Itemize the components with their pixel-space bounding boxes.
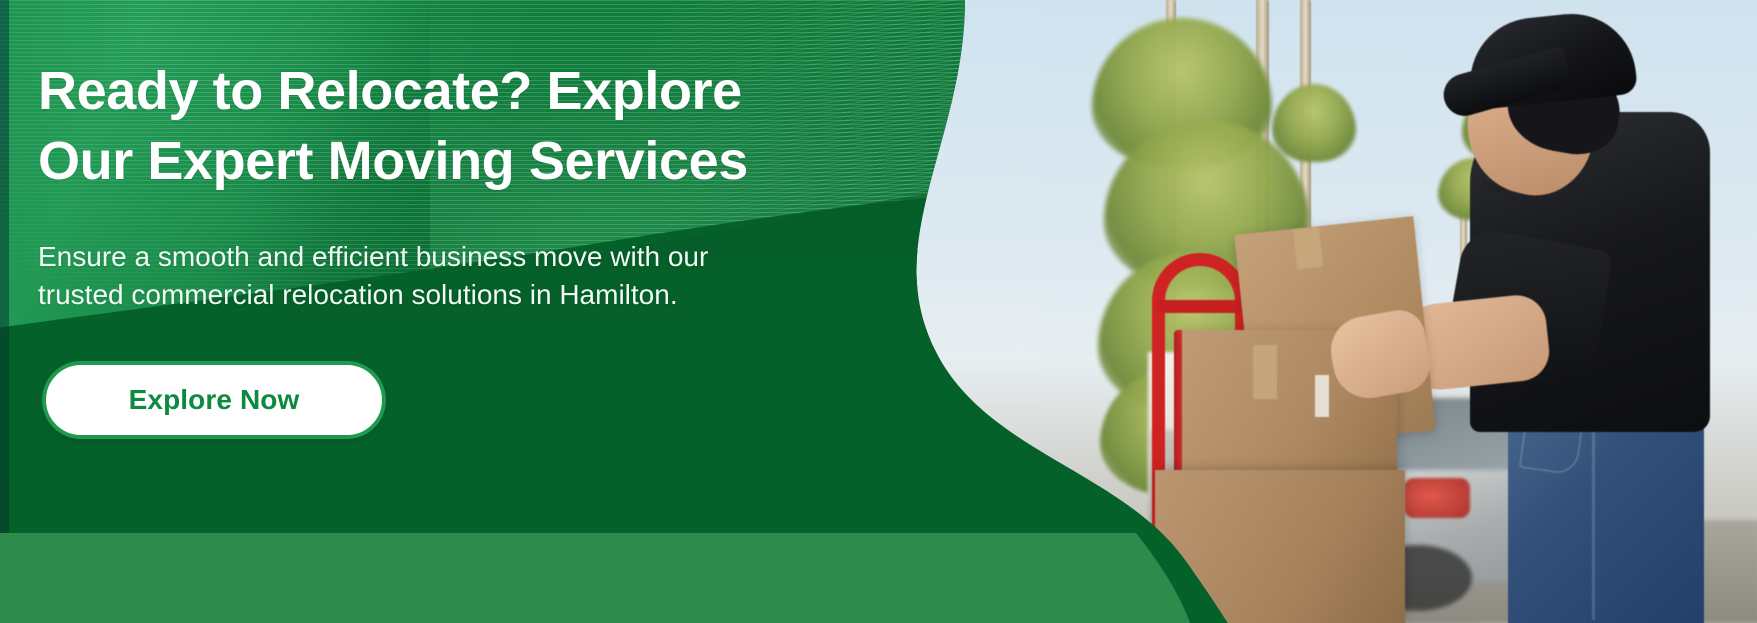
bottom-accent-band xyxy=(0,533,1100,623)
shipping-label xyxy=(1315,375,1329,417)
box-tape xyxy=(1293,227,1323,269)
hand-truck-crossbar xyxy=(1156,300,1248,313)
headline-line-2: Our Expert Moving Services xyxy=(38,131,748,191)
headline-line-1: Ready to Relocate? Explore xyxy=(38,61,742,121)
banner-subtext: Ensure a smooth and efficient business m… xyxy=(38,238,938,313)
subtext-line-2: trusted commercial relocation solutions … xyxy=(38,279,678,310)
page-title: Ready to Relocate? Explore Our Expert Mo… xyxy=(38,56,858,196)
box-tape xyxy=(1253,345,1277,399)
subtext-line-1: Ensure a smooth and efficient business m… xyxy=(38,241,708,272)
promo-banner: Ready to Relocate? Explore Our Expert Mo… xyxy=(0,0,1757,623)
car-taillight xyxy=(1404,478,1470,518)
jeans-seam xyxy=(1592,400,1595,620)
explore-now-button[interactable]: Explore Now xyxy=(42,361,386,439)
banner-content: Ready to Relocate? Explore Our Expert Mo… xyxy=(0,0,1000,533)
